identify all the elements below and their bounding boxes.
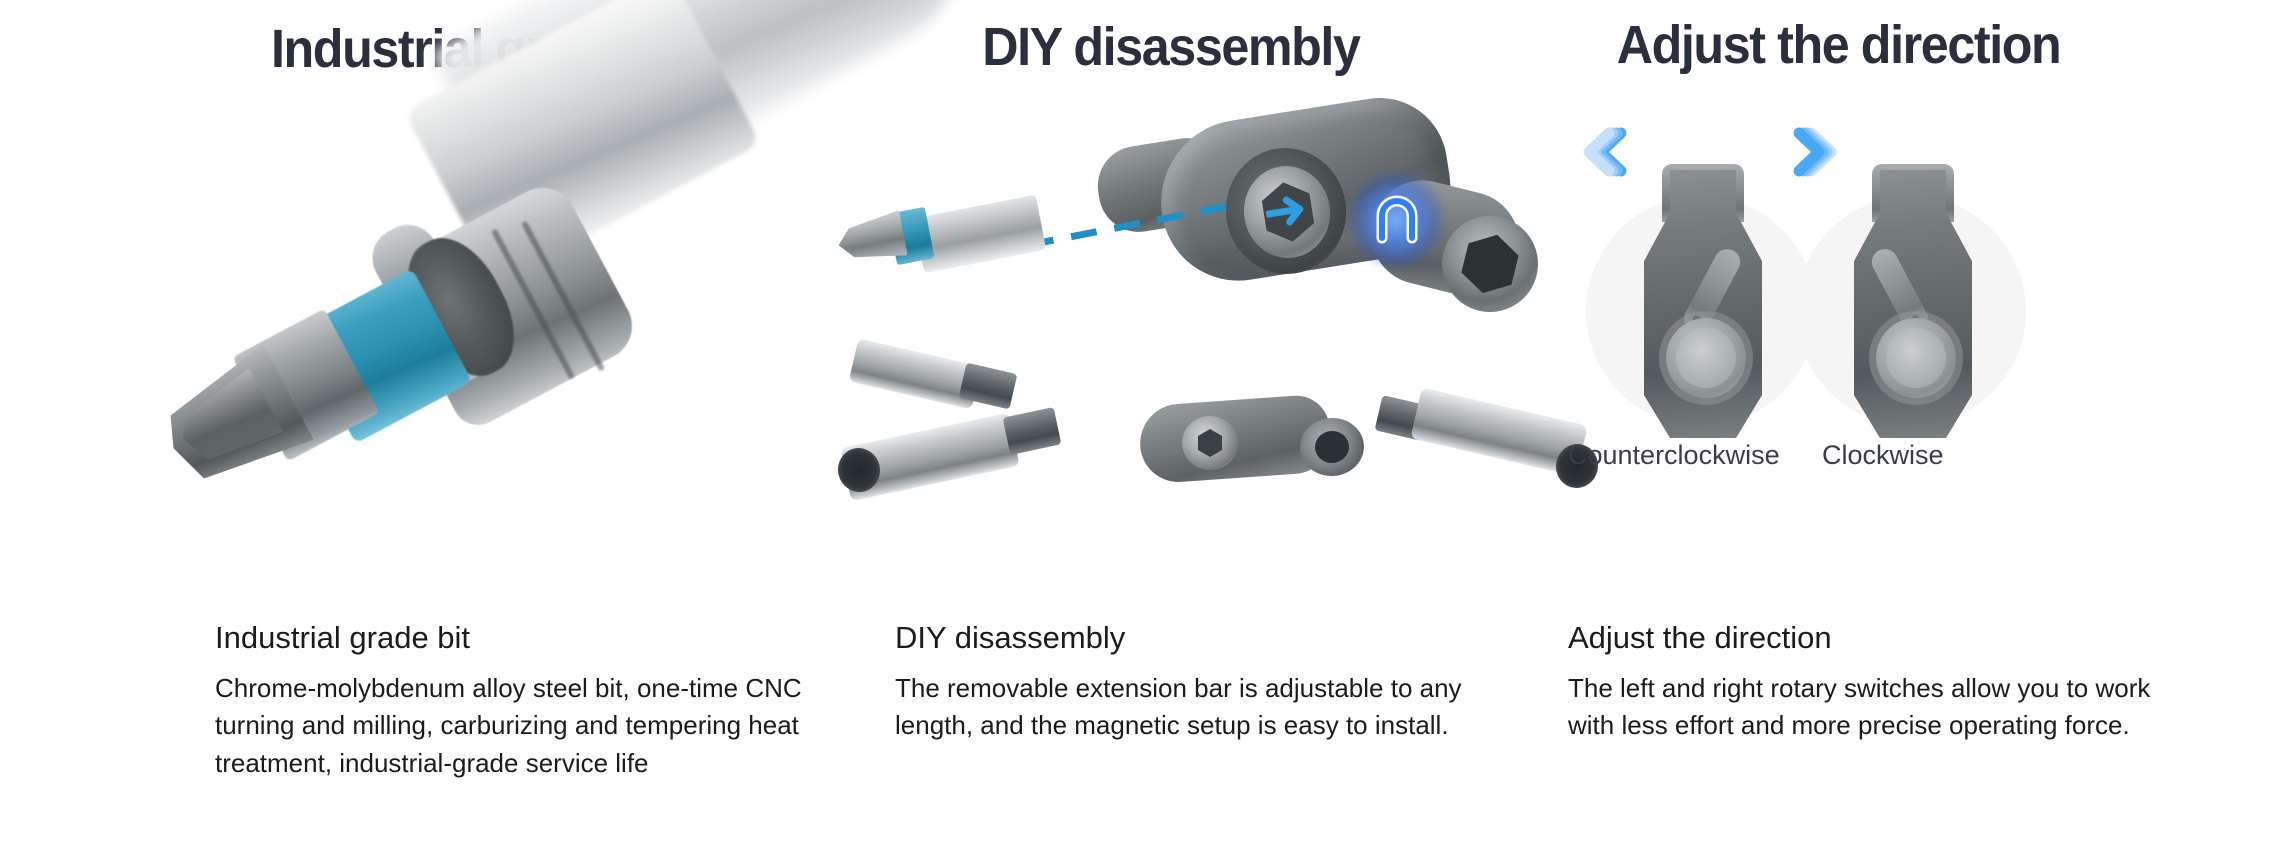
switch-dial[interactable] bbox=[1666, 318, 1746, 398]
caption-title-column-3: Adjust the direction bbox=[1568, 620, 2178, 656]
caption-block-column-2: DIY disassembly The removable extension … bbox=[895, 620, 1485, 745]
direction-label-counterclockwise: Counterclockwise bbox=[1568, 440, 1780, 471]
rotary-switch-counterclockwise bbox=[1586, 196, 1816, 426]
extension-bar-bottom-left-cap bbox=[1003, 407, 1062, 455]
caption-body-column-2: The removable extension bar is adjustabl… bbox=[895, 670, 1485, 745]
caption-title-column-1: Industrial grade bit bbox=[215, 620, 815, 656]
switch-dial[interactable] bbox=[1876, 318, 1956, 398]
rotary-switch-clockwise bbox=[1796, 196, 2026, 426]
arrow-right-icon bbox=[1263, 189, 1312, 233]
mini-ratchet-hub bbox=[1182, 416, 1238, 470]
caption-block-column-1: Industrial grade bit Chrome-molybdenum a… bbox=[215, 620, 815, 783]
caption-title-column-2: DIY disassembly bbox=[895, 620, 1485, 656]
diy-disassembly-illustration bbox=[830, 100, 1490, 580]
banner-title-column-2: DIY disassembly bbox=[982, 16, 1359, 78]
screwdriver-bit-illustration bbox=[150, 80, 830, 580]
caption-body-column-3: The left and right rotary switches allow… bbox=[1568, 670, 2178, 745]
feature-column-adjust-direction: Adjust the direction bbox=[1490, 0, 2288, 856]
feature-board: Industrial grade bit Industrial grade bi… bbox=[0, 0, 2288, 856]
floating-bit-body bbox=[914, 195, 1046, 274]
caption-body-column-1: Chrome-molybdenum alloy steel bit, one-t… bbox=[215, 670, 815, 783]
banner-title-column-3: Adjust the direction bbox=[1617, 14, 2061, 76]
direction-label-clockwise: Clockwise bbox=[1822, 440, 1944, 471]
magnet-icon bbox=[1372, 192, 1422, 244]
extension-bar-top-left bbox=[849, 338, 982, 409]
feature-column-diy-disassembly: DIY disassembly bbox=[830, 0, 1490, 856]
caption-block-column-3: Adjust the direction The left and right … bbox=[1568, 620, 2178, 745]
feature-column-industrial-bit: Industrial grade bit Industrial grade bi… bbox=[0, 0, 830, 856]
